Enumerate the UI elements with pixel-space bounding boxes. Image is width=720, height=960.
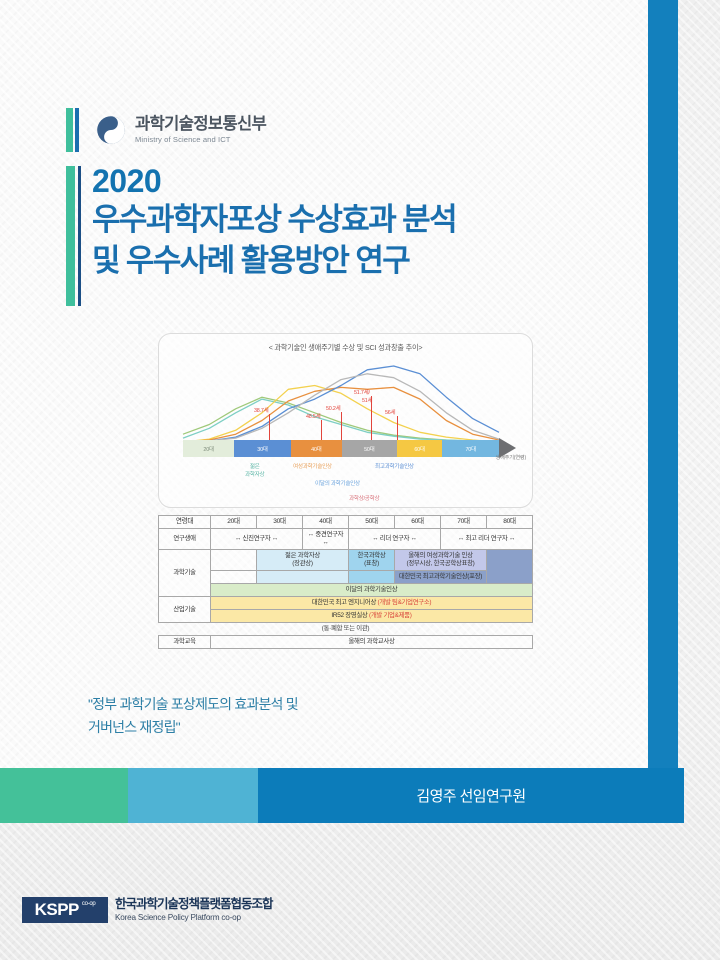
row-header-scitech: 과학기술 (159, 550, 211, 597)
award-women-scientist: 올해의 여성과학기술 인상 (정부시상, 한국공학상표창) (395, 550, 487, 571)
award-top-scientist: 대한민국 최고과학기술인상(포장) (395, 571, 487, 584)
chart-age-marker-label: 51.7세/ (354, 388, 370, 396)
age-cell-80: 80대 (487, 516, 533, 529)
table-row-top-scientist: 대한민국 최고과학기술인상(포장) (159, 571, 533, 584)
age-cell-50: 50대 (349, 516, 395, 529)
chart-age-marker-label: 50.2세 (326, 404, 340, 412)
author-banner: 김영주 선임연구원 (0, 768, 720, 823)
row-header-industry: 산업기술 (159, 597, 211, 623)
banner-block-midblue (128, 768, 258, 823)
award-matrix-table: 연령대 20대 30대 40대 50대 60대 70대 80대 연구생애 ↔ 신… (158, 515, 533, 649)
title-accent-green (66, 166, 75, 306)
age-segment: 30대 (234, 440, 291, 457)
row-header-education: 과학교육 (159, 636, 211, 649)
table-note: (통·폐합 또는 이관) (159, 623, 533, 636)
chart-xaxis-label: 생애주기(연령) (496, 454, 527, 461)
age-cell-60: 60대 (395, 516, 441, 529)
career-cell-top-leader: ↔ 최고 리더 연구자 ↔ (441, 529, 533, 550)
chart-award-label: 과학상/공학상 (349, 494, 379, 502)
author-name: 김영주 선임연구원 (258, 768, 684, 823)
row-header-career: 연구생애 (159, 529, 211, 550)
report-year: 2020 (92, 163, 652, 200)
kspp-wordmark: KSPP (35, 900, 79, 920)
kspp-org-en: Korea Science Policy Platform co-op (115, 913, 273, 922)
age-segment: 50대 (342, 440, 397, 457)
table-row-career: 연구생애 ↔ 신진연구자 ↔ ↔ 중견연구자 ↔ ↔ 리더 연구자 ↔ ↔ 최고… (159, 529, 533, 550)
table-row-engineer-award: 산업기술 대한민국 최고 엔지니어상 (개발 팀&기업연구소) (159, 597, 533, 610)
scitech-spacer-cell-2 (211, 571, 257, 584)
award-young-scientist-cont (257, 571, 349, 584)
chart-award-label: 여성과학기술인상 (293, 462, 332, 470)
age-cell-40: 40대 (303, 516, 349, 529)
age-cell-30: 30대 (257, 516, 303, 529)
award-engineer: 대한민국 최고 엔지니어상 (개발 팀&기업연구소) (211, 597, 533, 610)
kspp-logo-mark: KSPP co-op (22, 897, 108, 923)
award-engineer-label: 대한민국 최고 엔지니어상 (312, 599, 376, 606)
award-korea-science-cont (349, 571, 395, 584)
chart-age-marker-line (269, 414, 270, 440)
report-title: 우수과학자포상 수상효과 분석 및 우수사례 활용방안 연구 (92, 200, 652, 282)
age-cell-70: 70대 (441, 516, 487, 529)
banner-block-green (0, 768, 128, 823)
chart-age-marker-line (397, 416, 398, 440)
title-accent-blue (78, 166, 81, 306)
award-science-teacher: 올해의 과학교사상 (211, 636, 533, 649)
ministry-name-kr: 과학기술정보통신부 (135, 116, 266, 133)
career-cell-leader: ↔ 리더 연구자 ↔ (349, 529, 441, 550)
kspp-org-kr: 한국과학기술정책플랫폼협동조합 (115, 898, 273, 912)
age-segment: 20대 (183, 440, 234, 457)
chart-age-marker-line (321, 420, 322, 440)
chart-award-label: 최고과학기술인상 (375, 462, 414, 470)
accent-bar-green (66, 108, 73, 152)
chart-award-label: 이달의 과학기술인상 (315, 479, 360, 487)
scitech-spacer-cell (211, 550, 257, 571)
ministry-logo: 과학기술정보통신부 Ministry of Science and ICT (66, 108, 266, 152)
ministry-name-group: 과학기술정보통신부 Ministry of Science and ICT (135, 116, 266, 144)
age-segment: 40대 (291, 440, 342, 457)
award-ir52-label: IR52 장영실상 (331, 612, 367, 619)
award-ir52-sub: (개발 기업&제품) (369, 612, 412, 619)
chart-age-marker-label: 48.5세 (306, 412, 320, 420)
table-row-education: 과학교육 올해의 과학교사상 (159, 636, 533, 649)
chart-card: < 과학기술인 생애주기별 수상 및 SCI 성과창출 추이> 20대30대40… (158, 333, 533, 508)
award-top-scientist-blank (487, 550, 533, 584)
age-segment: 60대 (397, 440, 443, 457)
taegeuk-icon (96, 115, 126, 145)
award-month-scientist: 이달의 과학기술인상 (211, 584, 533, 597)
career-cell-mid: ↔ 중견연구자 ↔ (303, 529, 349, 550)
award-young-scientist: 젊은 과학자상 (장관상) (257, 550, 349, 571)
table-row-ir52-award: IR52 장영실상 (개발 기업&제품) (159, 610, 533, 623)
table-row-month-award: 이달의 과학기술인상 (159, 584, 533, 597)
award-ir52: IR52 장영실상 (개발 기업&제품) (211, 610, 533, 623)
footer-logo: KSPP co-op 한국과학기술정책플랫폼협동조합 Korea Science… (22, 897, 273, 923)
chart-age-marker-label: 51세 (362, 396, 372, 404)
age-axis-bar: 20대30대40대50대60대70대 (183, 440, 499, 457)
table-row-scitech-awards: 과학기술 젊은 과학자상 (장관상) 한국과학상 (표창) 올해의 여성과학기술… (159, 550, 533, 571)
table-row-age: 연령대 20대 30대 40대 50대 60대 70대 80대 (159, 516, 533, 529)
kspp-org-names: 한국과학기술정책플랫폼협동조합 Korea Science Policy Pla… (115, 898, 273, 923)
row-header-age: 연령대 (159, 516, 211, 529)
report-subtitle-quote: "정부 과학기술 포상제도의 효과분석 및 거버넌스 재정립" (88, 693, 518, 739)
age-segment: 70대 (442, 440, 499, 457)
right-blue-band (648, 0, 678, 768)
chart-age-marker-label: 38.7세 (254, 406, 268, 414)
kspp-coop-tag: co-op (82, 901, 96, 907)
career-cell-junior: ↔ 신진연구자 ↔ (211, 529, 303, 550)
award-engineer-sub: (개발 팀&기업연구소) (378, 599, 432, 606)
table-row-note: (통·폐합 또는 이관) (159, 623, 533, 636)
ministry-accent-bars (66, 108, 79, 152)
chart-age-marker-line (341, 412, 342, 440)
title-accent-bar (66, 166, 81, 306)
title-block: 2020 우수과학자포상 수상효과 분석 및 우수사례 활용방안 연구 (92, 163, 652, 282)
chart-age-marker-label: 56세 (385, 408, 395, 416)
chart-award-label: 젊은 과학자상 (245, 462, 264, 478)
award-korea-science: 한국과학상 (표창) (349, 550, 395, 571)
accent-bar-blue (75, 108, 79, 152)
ministry-name-en: Ministry of Science and ICT (135, 136, 266, 144)
age-cell-20: 20대 (211, 516, 257, 529)
